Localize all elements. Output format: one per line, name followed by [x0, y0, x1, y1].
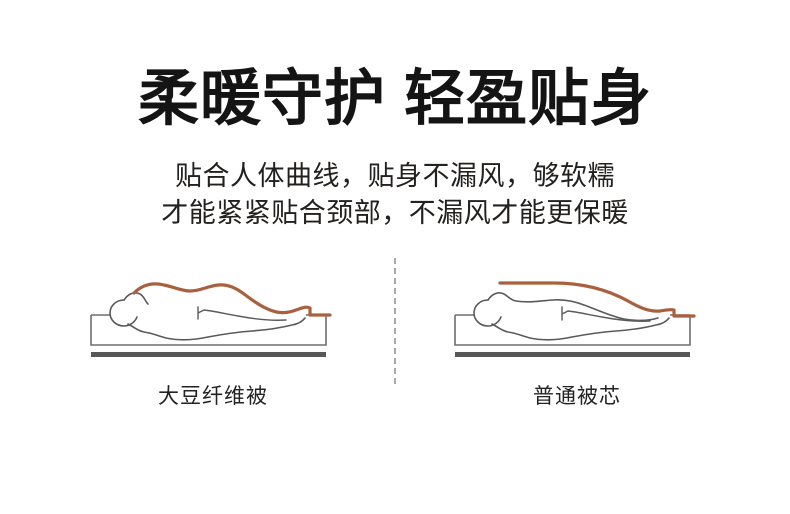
comparison-panel-soybean: 大豆纤维被 [48, 258, 378, 428]
quilt-contour-right [500, 283, 694, 316]
person-shoulder-left [124, 293, 148, 304]
person-arm-left [198, 307, 286, 320]
soybean-quilt-illustration [48, 258, 378, 368]
bed-base-slab-right [455, 352, 690, 357]
subtitle-line-2: 才能紧紧贴合颈部，不漏风才能更保暖 [0, 195, 790, 232]
subtitle-line-1: 贴合人体曲线，贴身不漏风，够软糯 [0, 158, 790, 195]
bed-base-slab-left [91, 352, 326, 357]
person-underbody-left [128, 318, 305, 340]
caption-ordinary-quilt-core: 普通被芯 [412, 383, 742, 411]
page-title: 柔暖守护 轻盈贴身 [0, 62, 790, 134]
comparison-panel-ordinary: 普通被芯 [412, 258, 742, 428]
person-head-left [110, 300, 137, 326]
person-torso-top-right [488, 293, 658, 321]
person-head-right [474, 300, 501, 326]
quilt-contour-left [134, 284, 330, 315]
vertical-divider [394, 258, 396, 384]
comparison-section: 大豆纤维被 普通被芯 [0, 258, 790, 428]
bed-frame-left [91, 315, 326, 345]
ordinary-quilt-illustration [412, 258, 742, 368]
subtitle-block: 贴合人体曲线，贴身不漏风，够软糯 才能紧紧贴合颈部，不漏风才能更保暖 [0, 158, 790, 232]
caption-soybean-fiber-quilt: 大豆纤维被 [48, 383, 378, 411]
promo-page: 柔暖守护 轻盈贴身 贴合人体曲线，贴身不漏风，够软糯 才能紧紧贴合颈部，不漏风才… [0, 0, 790, 514]
